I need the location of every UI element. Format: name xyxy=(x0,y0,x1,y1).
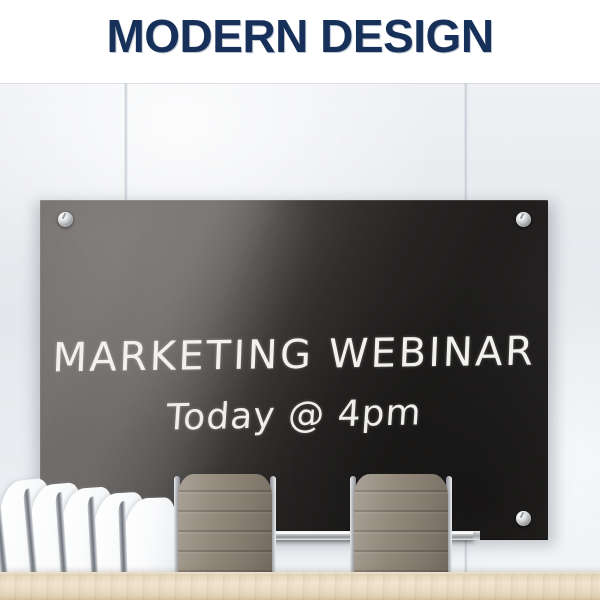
taupe-conference-chair xyxy=(172,474,278,586)
page-title: MODERN DESIGN xyxy=(0,8,600,64)
chair-backrest-sheen xyxy=(178,474,272,586)
furniture-group xyxy=(0,82,600,600)
chair-backrest xyxy=(354,474,448,586)
conference-room-scene: MARKETING WEBINAR Today @ 4pm xyxy=(0,82,600,600)
table-edge-highlight xyxy=(0,572,600,575)
product-lifestyle-image: MARKETING WEBINAR Today @ 4pm xyxy=(0,0,600,600)
chair-backrest-sheen xyxy=(354,474,448,586)
table-wood-grain xyxy=(0,572,600,600)
header-banner: MODERN DESIGN xyxy=(0,0,600,83)
chair-backrest xyxy=(178,474,272,586)
conference-table xyxy=(0,572,600,600)
taupe-conference-chair xyxy=(348,474,454,586)
